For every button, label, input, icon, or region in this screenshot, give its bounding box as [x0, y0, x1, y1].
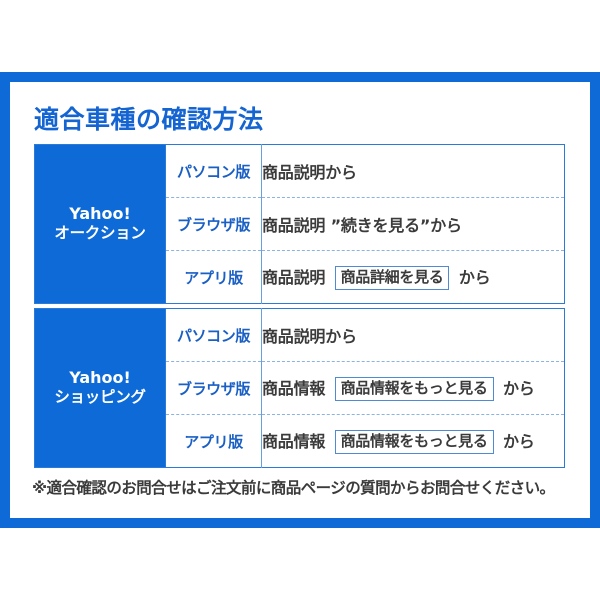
brand-line2: ショッピング — [35, 388, 165, 406]
blue-frame-border: 適合車種の確認方法 Yahoo! オークション パソコン版 商品説明から — [0, 72, 600, 528]
desc-text-after: から — [503, 379, 535, 398]
description-cell: 商品説明 商品詳細を見る から — [262, 251, 565, 304]
desc-text-before: 商品説明から — [262, 163, 357, 182]
description-cell: 商品説明 ”続きを見る”から — [262, 198, 565, 251]
description-cell: 商品説明から — [262, 145, 565, 198]
boxed-button-label[interactable]: 商品情報をもっと見る — [335, 377, 494, 401]
platform-label-app: アプリ版 — [166, 415, 262, 468]
table-yahoo-auction: Yahoo! オークション パソコン版 商品説明から ブラウザ版 商品説明 — [34, 144, 565, 304]
platform-label-browser: ブラウザ版 — [166, 198, 262, 251]
platform-label-browser: ブラウザ版 — [166, 362, 262, 415]
tables-wrapper: Yahoo! オークション パソコン版 商品説明から ブラウザ版 商品説明 — [34, 144, 565, 468]
footer-note: ※適合確認のお問合せはご注文前に商品ページの質問からお問合せください。 — [32, 476, 555, 498]
brand-line1: Yahoo! — [35, 205, 165, 224]
desc-text-after: から — [503, 432, 535, 451]
platform-label-pc: パソコン版 — [166, 309, 262, 362]
desc-text-before: 商品説明 ”続きを見る”から — [262, 216, 462, 235]
boxed-button-label[interactable]: 商品情報をもっと見る — [335, 430, 494, 454]
brand-cell-shopping: Yahoo! ショッピング — [35, 309, 166, 468]
infographic-page: 適合車種の確認方法 Yahoo! オークション パソコン版 商品説明から — [0, 0, 600, 600]
desc-text-before: 商品説明 — [262, 268, 325, 287]
desc-text-before: 商品説明から — [262, 327, 357, 346]
description-cell: 商品説明から — [262, 309, 565, 362]
boxed-button-label[interactable]: 商品詳細を見る — [335, 266, 450, 290]
description-cell: 商品情報 商品情報をもっと見る から — [262, 362, 565, 415]
brand-line2: オークション — [35, 224, 165, 242]
brand-cell-auction: Yahoo! オークション — [35, 145, 166, 304]
table-row: Yahoo! ショッピング パソコン版 商品説明から — [35, 309, 565, 362]
desc-text-before: 商品情報 — [262, 379, 325, 398]
desc-text-before: 商品情報 — [262, 432, 325, 451]
platform-label-pc: パソコン版 — [166, 145, 262, 198]
platform-label-app: アプリ版 — [166, 251, 262, 304]
desc-text-after: から — [459, 268, 491, 287]
table-row: Yahoo! オークション パソコン版 商品説明から — [35, 145, 565, 198]
description-cell: 商品情報 商品情報をもっと見る から — [262, 415, 565, 468]
table-yahoo-shopping: Yahoo! ショッピング パソコン版 商品説明から ブラウザ版 商品情報 — [34, 308, 565, 468]
frame-inner-panel: 適合車種の確認方法 Yahoo! オークション パソコン版 商品説明から — [10, 82, 590, 518]
page-title: 適合車種の確認方法 — [34, 100, 264, 136]
brand-line1: Yahoo! — [35, 369, 165, 388]
